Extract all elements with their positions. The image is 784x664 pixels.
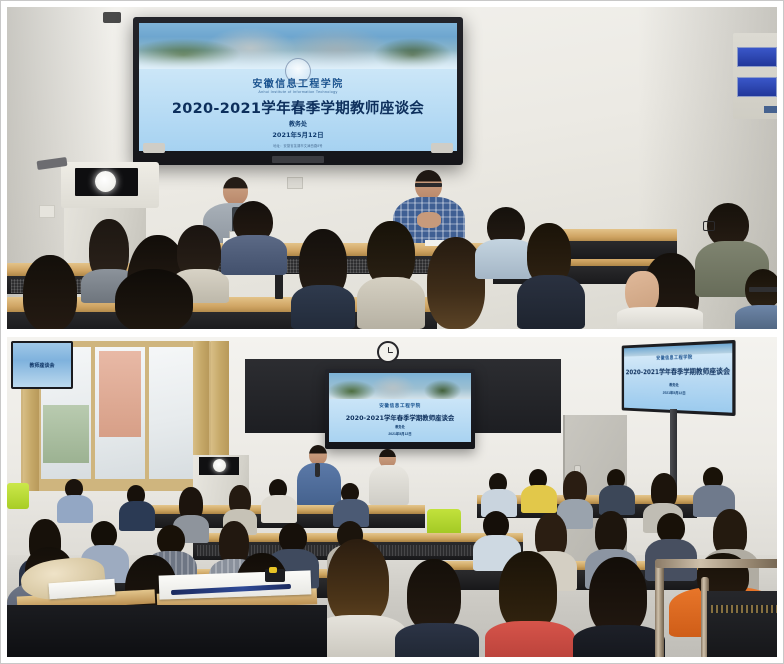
window-view-building bbox=[99, 351, 141, 437]
main-display-screen: 安徽信息工程学院 Anhui Institute of Information … bbox=[139, 23, 457, 151]
attendee-back-center-body bbox=[221, 235, 287, 275]
display-mount-right bbox=[431, 143, 453, 153]
wall-panel-box bbox=[733, 33, 777, 119]
front-display-title: 2020-2021学年春季学期教师座谈会 bbox=[329, 413, 471, 422]
speaker-with-mic-head bbox=[309, 445, 327, 465]
display-mount-left bbox=[143, 143, 165, 153]
front-display-date: 2021年5月12日 bbox=[329, 431, 471, 436]
side-monitor-right-screen: 安徽信息工程学院 2020-2021学年春季学期教师座谈会 教务处 2021年5… bbox=[624, 343, 732, 412]
slide-institution-cn: 安徽信息工程学院 bbox=[139, 75, 457, 90]
fg-desk-shadow bbox=[7, 605, 327, 657]
attendee-foreground-left-hair bbox=[23, 255, 77, 329]
fg-attendee-hair-b bbox=[327, 539, 389, 625]
window-view-foliage bbox=[43, 405, 89, 463]
fg-attendee-hair-e bbox=[589, 557, 647, 635]
front-display-campus-photo bbox=[329, 373, 471, 399]
collage-frame: 安徽信息工程学院 Anhui Institute of Information … bbox=[0, 0, 784, 664]
attendee-back-right-3-body bbox=[517, 275, 585, 329]
ceiling-speaker-icon bbox=[103, 12, 121, 23]
side-monitor-right-department: 教务处 bbox=[624, 382, 732, 388]
wall-outlet-plate bbox=[287, 177, 303, 189]
slide-date: 2021年5月12日 bbox=[139, 129, 457, 139]
chair-back-dark-right bbox=[707, 591, 777, 657]
side-monitor-left: 教师座谈会 bbox=[11, 341, 73, 389]
chrome-chair-rail-vertical bbox=[655, 559, 664, 657]
front-display-institution: 安徽信息工程学院 bbox=[329, 403, 471, 409]
microphone-icon bbox=[315, 463, 320, 477]
attendee-corner-right-glasses-icon bbox=[749, 287, 777, 292]
attendee-profile-right-body bbox=[617, 307, 703, 329]
side-monitor-left-text: 教师座谈会 bbox=[13, 362, 71, 369]
speaker-plaid-glasses-icon bbox=[415, 183, 442, 187]
lectern-lamp-icon bbox=[95, 171, 116, 192]
photo-bottom-meeting-wide-room: 教师座谈会 安徽信息工程学院 2020-2021学年春季学期教师座谈会 教务处 … bbox=[7, 337, 777, 657]
wall-clock bbox=[377, 341, 399, 363]
side-monitor-left-screen: 教师座谈会 bbox=[13, 343, 71, 387]
notice-panel-lower bbox=[737, 77, 777, 97]
side-monitor-right: 安徽信息工程学院 2020-2021学年春季学期教师座谈会 教务处 2021年5… bbox=[622, 340, 736, 416]
fg-attendee-body-d bbox=[485, 621, 575, 657]
yellow-clip-desk bbox=[269, 567, 277, 573]
attendee-w-body-1 bbox=[57, 495, 93, 523]
chrome-chair-rail-horizontal bbox=[655, 559, 777, 568]
photo-stack: 安徽信息工程学院 Anhui Institute of Information … bbox=[7, 7, 777, 657]
speaker-gray-shirt-head bbox=[223, 177, 248, 205]
notice-panel-upper bbox=[737, 47, 777, 67]
fg-attendee-hair-d bbox=[499, 551, 557, 631]
slide-institution-en: Anhui Institute of Information Technolog… bbox=[139, 90, 457, 94]
display-stand bbox=[272, 156, 325, 163]
fg-attendee-body-c bbox=[395, 623, 479, 657]
wall-switch-plate bbox=[39, 205, 55, 218]
slide-footer: 地址：安徽省芜湖市文津西路8号 bbox=[139, 143, 457, 148]
attendee-back-far-right-glasses-icon bbox=[703, 221, 715, 231]
green-chair-left[interactable] bbox=[7, 483, 29, 509]
fg-attendee-hair-c bbox=[407, 559, 461, 631]
lectern-lamp-wide-icon bbox=[213, 459, 226, 472]
window-pane-3 bbox=[149, 347, 195, 479]
front-display-screen: 安徽信息工程学院 2020-2021学年春季学期教师座谈会 教务处 2021年5… bbox=[329, 373, 471, 442]
attendee-w-body-8 bbox=[521, 485, 557, 513]
fg-attendee-body-e bbox=[573, 625, 665, 657]
photo-top-meeting-front-row: 安徽信息工程学院 Anhui Institute of Information … bbox=[7, 7, 777, 329]
chair-mesh-right bbox=[711, 605, 777, 613]
attendee-w-body-5 bbox=[261, 495, 297, 523]
slide-department: 教务处 bbox=[139, 119, 457, 128]
front-display-department: 教务处 bbox=[329, 424, 471, 429]
attendee-back-center-2-body bbox=[291, 285, 355, 329]
side-monitor-right-title: 2020-2021学年春季学期教师座谈会 bbox=[624, 365, 732, 376]
front-display: 安徽信息工程学院 2020-2021学年春季学期教师座谈会 教务处 2021年5… bbox=[325, 369, 475, 449]
front-attendee-body bbox=[369, 465, 409, 505]
main-display: 安徽信息工程学院 Anhui Institute of Information … bbox=[133, 17, 463, 165]
attendee-foreground-center-hair bbox=[115, 269, 193, 329]
speaker-plaid-hands bbox=[417, 212, 441, 228]
attendee-w-body-2 bbox=[119, 501, 155, 531]
side-monitor-right-date: 2021年5月12日 bbox=[624, 390, 732, 397]
attendee-w-body-10 bbox=[599, 485, 635, 515]
attendee-corner-right-body bbox=[735, 305, 777, 329]
panel-label-chip bbox=[764, 106, 777, 113]
slide-title: 2020-2021学年春季学期教师座谈会 bbox=[139, 97, 457, 118]
attendee-back-center-3-body bbox=[357, 277, 425, 329]
